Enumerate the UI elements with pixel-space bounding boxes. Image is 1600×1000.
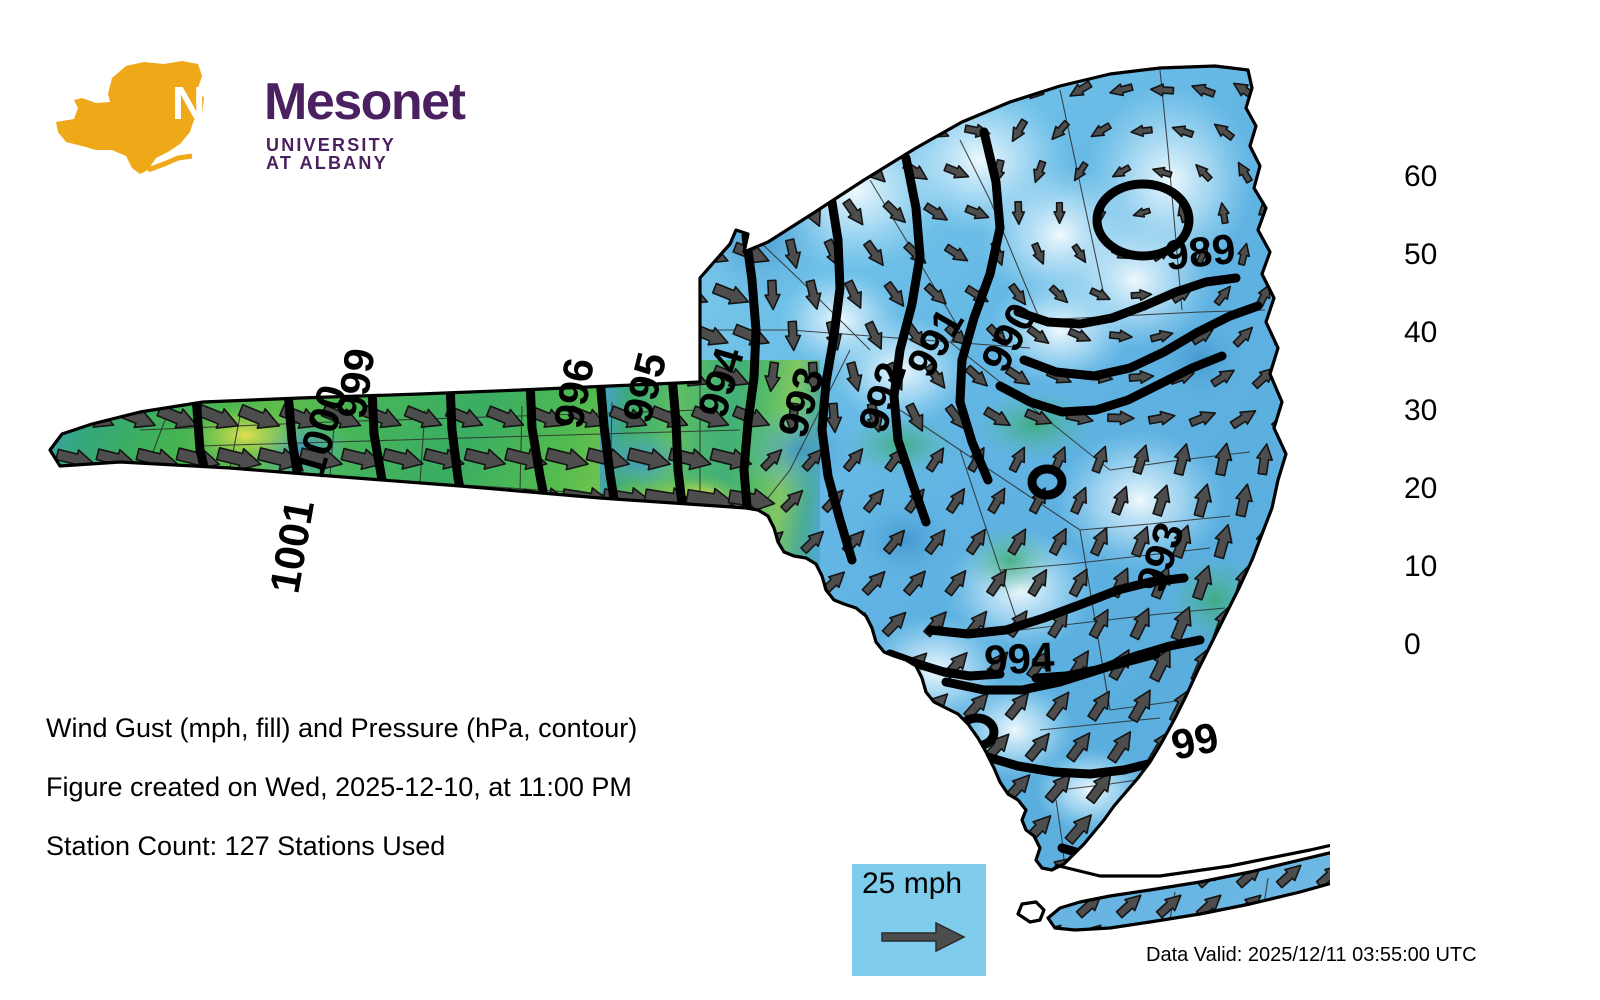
colorbar-tick-labels: 0102030405060 — [1404, 177, 1474, 645]
wind-arrow — [631, 695, 668, 714]
wind-arrow — [547, 116, 588, 147]
wind-arrow — [919, 770, 955, 804]
wind-arrow — [1206, 765, 1242, 809]
wind-arrow — [484, 571, 528, 593]
wind-arrow — [158, 157, 199, 188]
wind-arrow — [178, 280, 219, 311]
wind-arrow — [568, 75, 609, 106]
wind-arrow — [159, 653, 197, 675]
wind-arrow — [506, 612, 546, 635]
wind-arrow — [762, 197, 783, 229]
wind-arrow — [711, 198, 752, 229]
wind-arrow — [383, 116, 424, 147]
wind-arrow — [670, 116, 711, 147]
wind-arrow — [901, 78, 932, 102]
wind-arrow — [303, 695, 340, 714]
wind-arrow — [118, 653, 156, 675]
wind-arrow — [838, 689, 872, 721]
wind-arrow — [37, 573, 74, 591]
wind-arrow — [383, 280, 424, 311]
contour-label-989: 989 — [1163, 225, 1238, 279]
wind-arrow — [55, 116, 96, 147]
wind-arrow — [528, 898, 567, 921]
wind-arrow — [137, 116, 178, 147]
wind-arrow — [323, 572, 361, 591]
colorbar-tick-10: 10 — [1404, 552, 1437, 582]
wind-arrow — [731, 571, 774, 592]
wind-arrow — [879, 689, 913, 721]
wind-arrow — [1250, 685, 1279, 725]
wind-arrow — [651, 898, 690, 921]
wind-arrow — [76, 321, 117, 352]
wind-arrow — [756, 608, 788, 638]
contour-label-994: 994 — [983, 633, 1056, 684]
wind-arrow — [1273, 565, 1296, 600]
wind-arrow — [96, 280, 137, 311]
wind-arrow — [57, 695, 94, 714]
wind-arrow — [137, 280, 178, 311]
wind-arrow — [1277, 241, 1292, 266]
wind-arrow — [363, 75, 404, 106]
wind-arrow — [137, 198, 178, 229]
wind-arrow — [1000, 851, 1037, 886]
wind-arrow — [856, 812, 893, 845]
wind-arrow — [218, 361, 260, 393]
wind-arrow — [568, 239, 609, 270]
wind-arrow — [363, 157, 404, 188]
wind-arrow — [1229, 644, 1258, 684]
wind-arrow — [565, 570, 611, 593]
wind-arrow — [898, 811, 935, 845]
wind-arrow — [486, 157, 527, 188]
wind-arrow — [711, 612, 751, 635]
wind-arrow — [281, 321, 322, 352]
wind-arrow — [672, 695, 709, 714]
wind-arrow — [858, 730, 893, 762]
wind-arrow — [35, 321, 76, 352]
wind-arrow — [650, 75, 691, 106]
wind-arrow — [281, 239, 322, 270]
weather-map-figure: NYS Mesonet UNIVERSITY AT ALBANY — [0, 0, 1600, 1000]
colorbar-tick-0: 0 — [1404, 630, 1421, 660]
wind-arrow — [76, 488, 116, 512]
wind-arrow — [240, 239, 281, 270]
wind-arrow — [1228, 725, 1261, 767]
wind-arrow — [445, 75, 486, 106]
wind-arrow — [363, 239, 404, 270]
wind-arrow — [588, 611, 629, 634]
wind-arrow — [799, 115, 828, 147]
wind-arrow — [98, 612, 136, 633]
wind-arrow — [486, 239, 527, 270]
wind-arrow — [158, 75, 199, 106]
wind-arrow — [1292, 687, 1319, 724]
wind-arrow — [180, 612, 218, 633]
wind-arrow — [34, 402, 75, 433]
wind-arrow — [689, 571, 734, 593]
wind-arrow — [241, 653, 279, 675]
wind-arrow — [180, 695, 217, 714]
wind-arrow — [985, 76, 1011, 105]
wind-arrow — [610, 653, 649, 675]
wind-arrow — [77, 898, 116, 921]
wind-arrow — [446, 898, 485, 921]
wind-arrow — [527, 75, 568, 106]
wind-arrow — [609, 239, 650, 270]
wind-arrow — [760, 115, 785, 147]
wind-arrow — [444, 572, 486, 593]
wind-arrow — [323, 898, 362, 921]
caption-station-count: Station Count: 127 Stations Used — [46, 833, 806, 860]
contour-label-1001: 1001 — [261, 496, 324, 596]
wind-arrow — [199, 157, 240, 188]
wind-arrow — [384, 612, 423, 634]
wind-arrow — [588, 198, 629, 229]
wind-arrow — [422, 528, 468, 554]
wind-arrow — [650, 157, 691, 188]
wind-arrow — [588, 280, 629, 311]
wind-arrow — [606, 570, 653, 593]
wind-arrow — [465, 198, 506, 229]
wind-arrow — [609, 321, 650, 352]
wind-arrow — [220, 530, 259, 552]
wind-arrow — [383, 361, 424, 392]
wind-arrow — [404, 239, 445, 270]
wind-arrow — [178, 198, 219, 229]
wind-arrow — [1271, 76, 1299, 103]
wind-arrow — [820, 156, 849, 188]
wind-arrow — [343, 612, 381, 634]
wind-arrow — [815, 892, 852, 927]
wind-arrow — [445, 321, 486, 352]
colorbar-tick-30: 30 — [1404, 396, 1437, 426]
wind-arrow — [301, 280, 342, 311]
wind-arrow — [179, 530, 218, 552]
wind-arrow — [588, 116, 629, 147]
wind-arrow — [199, 321, 240, 352]
wind-arrow — [342, 198, 383, 229]
wind-arrow — [76, 75, 117, 106]
wind-arrow — [609, 157, 650, 188]
wind-arrow — [219, 280, 260, 311]
wind-arrow — [1269, 807, 1302, 848]
wind-arrow — [382, 529, 425, 553]
wind-arrow — [260, 116, 301, 147]
wind-arrow — [363, 321, 404, 352]
wind-arrow — [733, 653, 771, 675]
wind-arrow — [486, 75, 527, 106]
wind-arrow — [158, 321, 199, 352]
wind-arrow — [55, 362, 96, 393]
wind-arrow — [818, 648, 851, 679]
wind-arrow — [159, 898, 198, 921]
wind-arrow — [797, 608, 829, 638]
wind-arrow — [899, 729, 934, 762]
wind-arrow — [138, 530, 176, 552]
wind-arrow — [569, 898, 608, 921]
wind-arrow — [55, 280, 96, 311]
wind-key-arrow-icon — [880, 920, 966, 954]
wind-arrow — [1293, 117, 1318, 145]
wind-arrow — [119, 573, 156, 591]
wind-arrow — [445, 239, 486, 270]
wind-arrow — [281, 75, 322, 106]
wind-arrow — [943, 81, 971, 100]
wind-arrow — [650, 239, 691, 270]
wind-arrow — [342, 529, 383, 552]
wind-arrow — [35, 239, 76, 270]
wind-arrow — [445, 157, 486, 188]
wind-arrow — [405, 898, 444, 921]
wind-arrow — [322, 157, 363, 188]
wind-arrow — [98, 695, 135, 714]
wind-arrow — [1275, 159, 1296, 186]
wind-arrow — [1248, 766, 1281, 808]
figure-captions: Wind Gust (mph, fill) and Pressure (hPa,… — [46, 715, 806, 892]
wind-arrow — [424, 116, 465, 147]
wind-arrow — [859, 76, 891, 104]
wind-arrow — [219, 198, 260, 229]
wind-arrow — [57, 612, 95, 633]
wind-arrow — [301, 116, 342, 147]
wind-arrow — [1295, 281, 1316, 309]
wind-arrow — [117, 321, 158, 352]
wind-arrow — [610, 898, 649, 921]
wind-arrow — [385, 695, 422, 714]
wind-arrow — [323, 653, 361, 675]
wind-arrow — [1251, 604, 1277, 641]
wind-arrow — [664, 526, 717, 556]
wind-arrow — [733, 898, 772, 921]
wind-arrow — [201, 573, 238, 592]
wind-arrow — [776, 649, 809, 679]
wind-arrow — [547, 612, 588, 635]
wind-arrow — [816, 730, 851, 762]
wind-arrow — [940, 729, 974, 763]
wind-arrow — [342, 280, 383, 311]
wind-arrow — [465, 362, 506, 393]
wind-arrow — [647, 570, 693, 593]
wind-arrow — [157, 487, 199, 512]
wind-arrow — [240, 321, 281, 352]
wind-arrow — [97, 530, 135, 552]
wind-arrow — [364, 898, 403, 921]
wind-arrow — [139, 695, 176, 714]
wind-arrow — [732, 75, 773, 106]
wind-arrow — [465, 280, 506, 311]
wind-arrow — [528, 653, 567, 675]
wind-arrow — [1291, 362, 1319, 392]
wind-arrow — [581, 525, 637, 556]
wind-arrow — [547, 280, 588, 311]
wind-arrow — [118, 898, 157, 921]
wind-arrow — [55, 198, 96, 229]
wind-arrow — [322, 239, 363, 270]
wind-arrow — [221, 695, 258, 714]
wind-arrow — [980, 810, 1016, 845]
wind-arrow — [506, 198, 547, 229]
wind-arrow — [402, 486, 447, 513]
wind-arrow — [629, 116, 670, 147]
wind-arrow — [139, 612, 177, 633]
wind-arrow — [117, 157, 158, 188]
wind-arrow — [461, 527, 510, 554]
wind-arrow — [240, 75, 281, 106]
wind-arrow — [383, 198, 424, 229]
colorbar-tick-40: 40 — [1404, 318, 1437, 348]
wind-arrow — [467, 695, 504, 714]
wind-arrow — [609, 75, 650, 106]
wind-arrow — [117, 239, 158, 270]
wind-arrow — [1297, 444, 1315, 474]
wind-arrow — [35, 157, 76, 188]
wind-arrow — [240, 157, 281, 188]
wind-arrow — [137, 361, 179, 392]
wind-arrow — [78, 573, 115, 591]
wind-arrow — [404, 572, 444, 592]
wind-arrow — [713, 695, 750, 714]
caption-variable: Wind Gust (mph, fill) and Pressure (hPa,… — [46, 715, 806, 742]
wind-arrow — [706, 527, 757, 555]
wind-arrow — [508, 695, 545, 714]
wind-arrow — [364, 653, 402, 675]
wind-arrow — [650, 321, 691, 352]
wind-arrow — [549, 695, 586, 714]
wind-arrow — [779, 74, 807, 106]
wind-arrow — [568, 321, 609, 352]
wind-arrow — [178, 116, 219, 147]
wind-arrow — [524, 571, 569, 594]
wind-arrow — [1298, 200, 1314, 226]
wind-arrow — [670, 198, 711, 229]
wind-arrow — [1143, 807, 1180, 849]
data-valid-timestamp: Data Valid: 2025/12/11 03:55:00 UTC — [1146, 944, 1477, 967]
wind-arrow — [96, 361, 137, 392]
wind-arrow — [839, 116, 870, 147]
wind-arrow — [819, 75, 850, 106]
wind-arrow — [56, 530, 94, 552]
wind-arrow — [446, 653, 484, 675]
wind-arrow — [260, 280, 301, 311]
wind-arrow — [466, 612, 506, 634]
wind-arrow — [878, 770, 914, 803]
wind-key-label: 25 mph — [862, 868, 962, 900]
wind-arrow — [96, 116, 137, 147]
wind-arrow — [259, 361, 301, 393]
wind-arrow — [547, 198, 588, 229]
wind-arrow — [36, 653, 74, 675]
wind-arrow — [322, 75, 363, 106]
wind-arrow — [486, 321, 527, 352]
wind-arrow — [342, 116, 383, 147]
wind-arrow — [77, 653, 115, 675]
wind-arrow — [527, 321, 568, 352]
wind-arrow — [36, 898, 75, 921]
wind-arrow — [732, 157, 773, 188]
wind-arrow — [96, 198, 137, 229]
wind-arrow — [1314, 890, 1330, 920]
caption-created: Figure created on Wed, 2025-12-10, at 11… — [46, 774, 806, 801]
wind-arrow — [261, 612, 299, 633]
wind-arrow — [506, 116, 547, 147]
wind-arrow — [1226, 806, 1262, 850]
colorbar-gradient — [1339, 177, 1393, 645]
wind-arrow — [160, 573, 197, 592]
wind-arrow — [281, 157, 322, 188]
wind-arrow — [424, 198, 465, 229]
wind-arrow — [260, 198, 301, 229]
wind-arrow — [76, 157, 117, 188]
wind-arrow — [1295, 525, 1316, 557]
wind-arrow — [200, 653, 238, 675]
wind-arrow — [527, 239, 568, 270]
wind-arrow — [651, 653, 690, 675]
wind-arrow — [35, 75, 76, 106]
wind-arrow — [569, 653, 608, 675]
wind-arrow — [364, 572, 403, 592]
wind-arrow — [780, 156, 805, 189]
wind-arrow — [262, 695, 299, 714]
wind-arrow — [199, 75, 240, 106]
wind-arrow — [200, 898, 239, 921]
wind-arrow — [527, 157, 568, 188]
wind-arrow — [424, 362, 465, 393]
wind-arrow — [1294, 606, 1318, 641]
wind-arrow — [1275, 484, 1295, 516]
wind-arrow — [302, 612, 340, 634]
colorbar-tick-20: 20 — [1404, 474, 1437, 504]
wind-arrow — [199, 239, 240, 270]
wind-arrow — [777, 567, 808, 597]
wind-arrow — [880, 117, 911, 144]
wind-arrow — [815, 812, 852, 844]
wind-arrow — [404, 321, 445, 352]
wind-arrow — [501, 526, 553, 555]
wind-arrow — [35, 488, 74, 512]
wind-arrow — [361, 487, 404, 514]
wind-arrow — [76, 239, 117, 270]
wind-arrow — [692, 653, 731, 675]
wind-arrow — [836, 771, 872, 803]
wind-arrow — [568, 157, 609, 188]
wind-arrow — [178, 361, 220, 393]
wind-arrow — [629, 611, 670, 634]
wind-arrow — [1081, 851, 1119, 887]
wind-arrow — [590, 695, 627, 714]
wind-arrow — [629, 280, 670, 311]
wind-arrow — [158, 239, 199, 270]
wind-gust-colorbar — [1339, 177, 1393, 645]
wind-arrow — [711, 116, 752, 147]
wind-arrow — [241, 898, 280, 921]
wind-arrow — [117, 75, 158, 106]
wind-arrow — [219, 116, 260, 147]
wind-arrow — [939, 811, 976, 846]
wind-arrow — [424, 280, 465, 311]
contour-label-99: 99 — [1167, 713, 1222, 769]
wind-arrow — [1184, 806, 1222, 850]
wind-arrow — [670, 612, 711, 635]
wind-arrow — [404, 75, 445, 106]
wind-arrow — [344, 695, 381, 714]
wind-arrow — [465, 116, 506, 147]
wind-arrow — [540, 526, 594, 557]
wind-arrow — [960, 770, 995, 805]
wind-arrow — [198, 487, 240, 513]
wind-arrow — [117, 488, 158, 513]
wind-arrow — [425, 612, 464, 634]
wind-arrow — [487, 898, 526, 921]
